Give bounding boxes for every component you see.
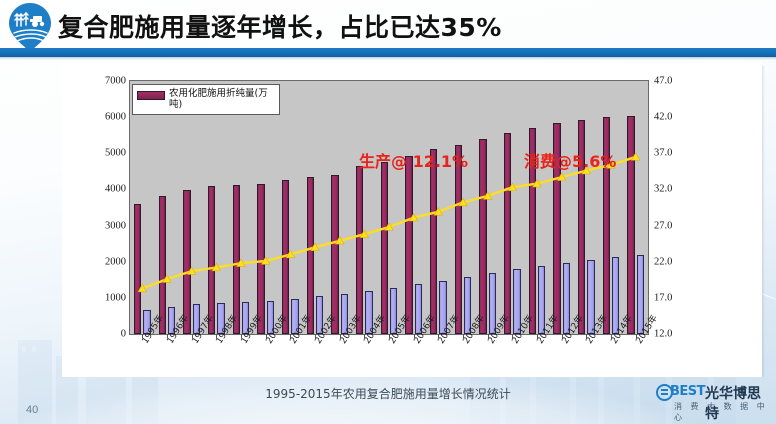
y-axis-right: 12.017.022.027.032.037.042.047.0 [654, 80, 714, 335]
y-axis-right-tick: 17.0 [654, 292, 672, 303]
slide: 复合肥施用量逐年增长，占比已达35% 010002000300040005000… [0, 0, 776, 424]
line-marker [631, 153, 639, 161]
legend-label: 农用化肥施用折纯量(万吨) [169, 88, 275, 110]
agriculture-pin-icon [6, 2, 54, 52]
y-axis-left-tick: 1000 [105, 292, 126, 303]
legend-swatch-icon [137, 91, 165, 100]
page-number: 40 [26, 404, 38, 416]
legend-item: 农用化肥施用折纯量(万吨) [137, 88, 275, 110]
chart-container: 01000200030004000500060007000 12.017.022… [62, 62, 762, 377]
annotation-production: 生产@ 12.1% [359, 148, 468, 172]
y-axis-right-tick: 12.0 [654, 329, 672, 340]
y-axis-left-tick: 4000 [105, 184, 126, 195]
y-axis-right-tick: 37.0 [654, 148, 672, 159]
plot-area [129, 80, 649, 335]
y-axis-left: 01000200030004000500060007000 [72, 80, 126, 335]
y-axis-right-tick: 32.0 [654, 184, 672, 195]
slide-header: 复合肥施用量逐年增长，占比已达35% [0, 0, 776, 54]
header-accent-bar [0, 48, 776, 57]
y-axis-right-tick: 47.0 [654, 76, 672, 87]
footer-logo-mark: BEST [670, 384, 705, 399]
page-title: 复合肥施用量逐年增长，占比已达35% [58, 8, 758, 48]
y-axis-left-tick: 2000 [105, 256, 126, 267]
header-accent-bar-shadow [0, 57, 776, 60]
chart-legend: 农用化肥施用折纯量(万吨) [132, 84, 280, 115]
percentage-line-series [130, 81, 648, 334]
y-axis-left-tick: 5000 [105, 148, 126, 159]
y-axis-right-tick: 22.0 [654, 256, 672, 267]
footer-logo: BEST 光华博思特 消 费 大 数 据 中 心 [656, 382, 768, 416]
y-axis-right-tick: 42.0 [654, 112, 672, 123]
y-axis-left-tick: 0 [121, 329, 126, 340]
y-axis-right-tick: 27.0 [654, 220, 672, 231]
footer-logo-subtitle: 消 费 大 数 据 中 心 [674, 401, 768, 423]
y-axis-left-tick: 6000 [105, 112, 126, 123]
annotation-consumption: 消费@5.6% [524, 148, 616, 172]
x-axis-labels: 1995年1996年1997年1998年1999年2000年2001年2002年… [129, 339, 669, 387]
y-axis-left-tick: 3000 [105, 220, 126, 231]
y-axis-left-tick: 7000 [105, 76, 126, 87]
